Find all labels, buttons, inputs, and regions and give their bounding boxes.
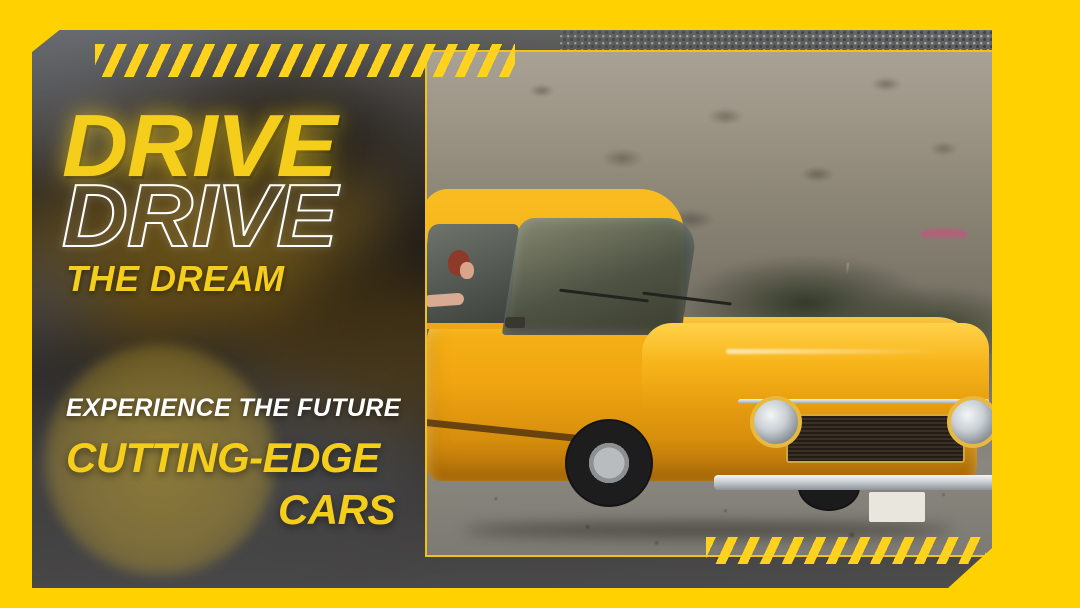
promo-banner: DRIVE DRIVE THE DREAM EXPERIENCE THE FUT… [0, 0, 1080, 608]
windshield [502, 218, 700, 335]
distant-pink-roof [921, 228, 967, 238]
headlight-right [947, 396, 999, 448]
promo-line-2: CARS [278, 486, 395, 534]
car-photo-scene [427, 52, 1001, 555]
promo-kicker: EXPERIENCE THE FUTURE [66, 394, 401, 423]
front-wheel [565, 419, 653, 507]
license-plate [869, 492, 925, 522]
car-shadow [463, 522, 953, 538]
car-photo-card [425, 50, 1003, 557]
headlight-left [750, 396, 802, 448]
diagonal-stripes-bottom [706, 537, 986, 564]
headline-subline: THE DREAM [66, 258, 285, 300]
headline-main: DRIVE [62, 106, 337, 187]
promo-line-1: CUTTING-EDGE [66, 434, 380, 482]
hood-highlight [726, 349, 941, 354]
front-bumper [714, 475, 995, 490]
diagonal-stripes-top [95, 44, 515, 77]
front-grille [786, 414, 965, 464]
classic-car [427, 253, 1001, 545]
side-mirror [505, 317, 525, 328]
driver-face [460, 262, 474, 279]
car-hood [642, 323, 988, 411]
